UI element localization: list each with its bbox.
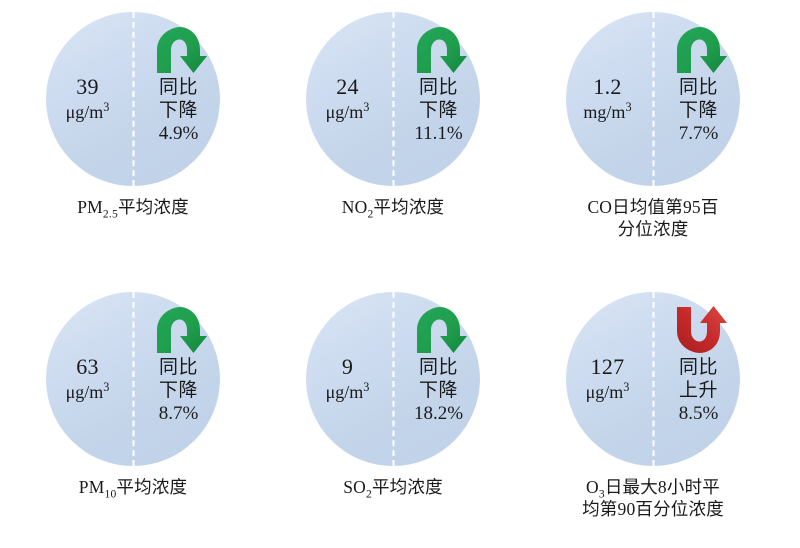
trend-line-1: 同比 [414,76,462,99]
indicator-caption: PM10平均浓度 [0,476,266,498]
trend-text: 同比 上升 8.5% [679,356,719,426]
trend-line-1: 同比 [159,356,199,379]
dial-left-half: 63 μg/m3 [46,292,133,466]
unit-exponent: 3 [363,380,369,394]
trend-arrow-slot [670,25,728,75]
indicator-value: 127 [591,354,625,380]
trend-percent: 11.1% [414,122,462,145]
indicator-board: 39 μg/m3 同比 下降 4.9% PM2.5平均浓度 24 μg/m3 [0,0,800,536]
indicator-cell-pm25[interactable]: 39 μg/m3 同比 下降 4.9% PM2.5平均浓度 [0,0,266,268]
caption-line: NO2平均浓度 [274,196,512,218]
dial-right-half: 同比 下降 7.7% [653,12,740,186]
trend-line-1: 同比 [679,356,719,379]
trend-line-2: 下降 [414,99,462,122]
trend-percent: 7.7% [679,122,719,145]
arrow-down-curved-icon [150,305,208,355]
trend-arrow-slot [410,25,468,75]
indicator-value: 1.2 [593,74,621,100]
indicator-caption: O3日最大8小时平均第90百分位浓度 [520,476,786,521]
indicator-caption: SO2平均浓度 [260,476,526,498]
indicator-value: 9 [342,354,353,380]
caption-line: 分位浓度 [534,218,772,240]
trend-line-1: 同比 [159,76,199,99]
trend-percent: 4.9% [159,122,199,145]
trend-arrow-slot [150,305,208,355]
arrow-down-curved-icon [410,305,468,355]
trend-text: 同比 下降 11.1% [414,76,462,146]
trend-arrow-slot [670,305,728,355]
caption-subscript: 2.5 [103,209,118,221]
dial-left-half: 127 μg/m3 [566,292,653,466]
indicator-dial: 9 μg/m3 同比 下降 18.2% [306,292,480,466]
dial-right-half: 同比 下降 8.7% [133,292,220,466]
indicator-caption: NO2平均浓度 [260,196,526,218]
caption-line: SO2平均浓度 [274,476,512,498]
trend-text: 同比 下降 7.7% [679,76,719,146]
indicator-value: 24 [336,74,359,100]
trend-text: 同比 下降 8.7% [159,356,199,426]
trend-line-1: 同比 [414,356,463,379]
trend-percent: 8.7% [159,402,199,425]
dial-left-half: 24 μg/m3 [306,12,393,186]
dial-right-half: 同比 下降 18.2% [393,292,480,466]
arrow-down-curved-icon [150,25,208,75]
indicator-cell-so2[interactable]: 9 μg/m3 同比 下降 18.2% SO2平均浓度 [260,280,526,548]
caption-line: 均第90百分位浓度 [534,498,772,520]
caption-line: PM10平均浓度 [14,476,252,498]
caption-subscript: 2 [367,209,373,221]
indicator-unit: μg/m3 [66,102,110,123]
caption-line: CO日均值第95百 [534,196,772,218]
indicator-dial: 1.2 mg/m3 同比 下降 7.7% [566,12,740,186]
indicator-caption: PM2.5平均浓度 [0,196,266,218]
arrow-down-curved-icon [670,25,728,75]
caption-subscript: 2 [366,489,372,501]
dial-right-half: 同比 下降 4.9% [133,12,220,186]
trend-arrow-slot [410,305,468,355]
arrow-up-curved-icon [670,305,728,355]
indicator-value: 39 [76,74,99,100]
indicator-dial: 39 μg/m3 同比 下降 4.9% [46,12,220,186]
trend-arrow-slot [150,25,208,75]
dial-right-half: 同比 下降 11.1% [393,12,480,186]
indicator-unit: μg/m3 [66,382,110,403]
unit-exponent: 3 [623,380,629,394]
indicator-unit: μg/m3 [326,102,370,123]
trend-text: 同比 下降 4.9% [159,76,199,146]
indicator-dial: 24 μg/m3 同比 下降 11.1% [306,12,480,186]
trend-percent: 18.2% [414,402,463,425]
dial-left-half: 39 μg/m3 [46,12,133,186]
trend-percent: 8.5% [679,402,719,425]
caption-line: PM2.5平均浓度 [14,196,252,218]
trend-text: 同比 下降 18.2% [414,356,463,426]
trend-line-1: 同比 [679,76,719,99]
dial-left-half: 9 μg/m3 [306,292,393,466]
indicator-dial: 63 μg/m3 同比 下降 8.7% [46,292,220,466]
indicator-cell-pm10[interactable]: 63 μg/m3 同比 下降 8.7% PM10平均浓度 [0,280,266,548]
dial-left-half: 1.2 mg/m3 [566,12,653,186]
unit-exponent: 3 [625,100,631,114]
indicator-cell-co[interactable]: 1.2 mg/m3 同比 下降 7.7% CO日均值第95百分位浓度 [520,0,786,268]
indicator-unit: μg/m3 [586,382,630,403]
indicator-value: 63 [76,354,99,380]
dial-right-half: 同比 上升 8.5% [653,292,740,466]
arrow-down-curved-icon [410,25,468,75]
indicator-cell-no2[interactable]: 24 μg/m3 同比 下降 11.1% NO2平均浓度 [260,0,526,268]
trend-line-2: 下降 [159,99,199,122]
caption-line: O3日最大8小时平 [534,476,772,498]
unit-exponent: 3 [103,100,109,114]
indicator-cell-o3[interactable]: 127 μg/m3 同比 上升 8.5% O3日最大8小时平均第90百分位浓度 [520,280,786,548]
indicator-caption: CO日均值第95百分位浓度 [520,196,786,241]
unit-exponent: 3 [103,380,109,394]
indicator-unit: mg/m3 [583,102,631,123]
indicator-unit: μg/m3 [326,382,370,403]
indicator-dial: 127 μg/m3 同比 上升 8.5% [566,292,740,466]
trend-line-2: 上升 [679,379,719,402]
trend-line-2: 下降 [414,379,463,402]
trend-line-2: 下降 [679,99,719,122]
caption-subscript: 10 [104,489,116,501]
unit-exponent: 3 [363,100,369,114]
trend-line-2: 下降 [159,379,199,402]
